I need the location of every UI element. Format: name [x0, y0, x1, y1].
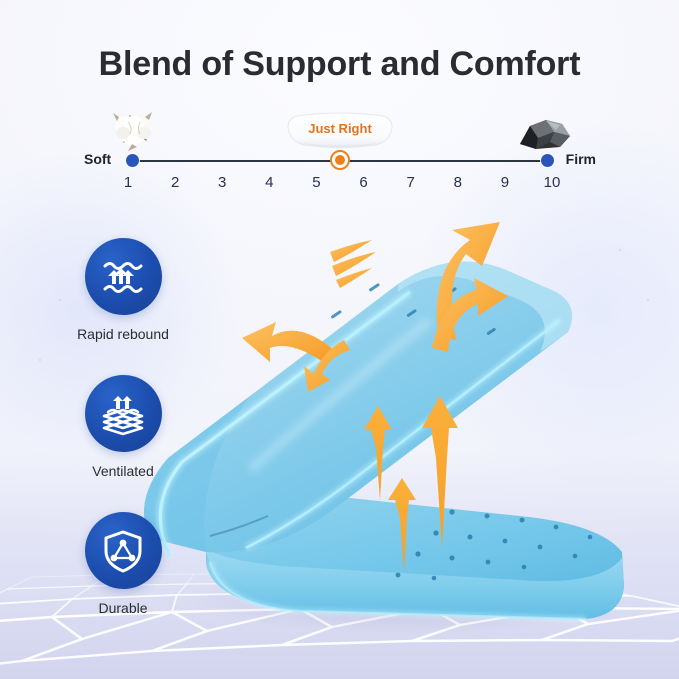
- scale-tick: 5: [306, 174, 326, 191]
- cotton-boll-icon: [110, 108, 160, 154]
- feature-label: Durable: [68, 600, 178, 616]
- feature-durable: Durable: [68, 512, 178, 616]
- feature-label: Ventilated: [68, 463, 178, 479]
- scale-tick: 9: [495, 174, 515, 191]
- scale-endpoint-soft: [126, 154, 139, 167]
- firmness-marker[interactable]: [330, 150, 350, 170]
- just-right-label: Just Right: [283, 110, 397, 152]
- scale-tick: 2: [165, 174, 185, 191]
- shield-molecule-icon: [85, 512, 162, 589]
- scale-tick: 10: [542, 174, 562, 191]
- scale-tick: 3: [212, 174, 232, 191]
- scale-tick: 7: [401, 174, 421, 191]
- page-title: Blend of Support and Comfort: [0, 45, 679, 84]
- product-feature-banner: Blend of Support and Comfort: [0, 0, 679, 679]
- layered-airflow-icon: [85, 375, 162, 452]
- scale-ticks: 1 2 3 4 5 6 7 8 9 10: [118, 174, 562, 191]
- rock-stone-icon: [516, 114, 574, 154]
- scale-endpoint-firm: [541, 154, 554, 167]
- scale-tick: 8: [448, 174, 468, 191]
- soft-label: Soft: [84, 151, 111, 167]
- scale-tick: 4: [259, 174, 279, 191]
- just-right-badge: Just Right: [283, 110, 397, 152]
- rebound-waves-arrows-icon: [85, 238, 162, 315]
- scale-tick: 1: [118, 174, 138, 191]
- feature-list: Rapid rebound: [68, 238, 178, 616]
- feature-rapid-rebound: Rapid rebound: [68, 238, 178, 342]
- firmness-scale: Just Right Soft Firm 1 2 3 4 5 6: [84, 112, 596, 194]
- scale-tick: 6: [354, 174, 374, 191]
- feature-ventilated: Ventilated: [68, 375, 178, 479]
- firm-label: Firm: [566, 151, 596, 167]
- feature-label: Rapid rebound: [68, 326, 178, 342]
